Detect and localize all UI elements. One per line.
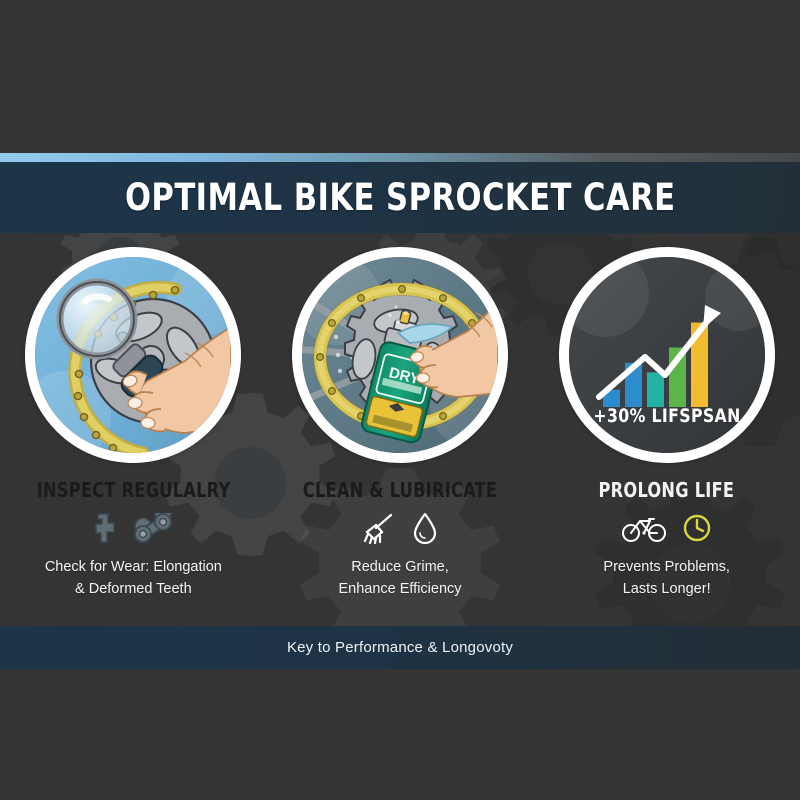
subtext-clean-line1: Reduce Grime,	[338, 556, 461, 578]
chart-bar	[647, 372, 664, 407]
infographic-poster: OPTIMAL BIKE SPROCKET CARE	[0, 153, 800, 669]
column-prolong: +30% LIFSPSAN PROLONG LIFE	[533, 241, 800, 626]
title-accent-strip	[0, 153, 800, 162]
subtext-inspect: Check for Wear: Elongation & Deformed Te…	[45, 556, 222, 601]
subtext-inspect-line1: Check for Wear: Elongation	[45, 556, 222, 578]
circle-inspect	[25, 247, 241, 463]
subtext-inspect-line2: & Deformed Teeth	[45, 578, 222, 600]
columns-container: INSPECT REGULALRY	[0, 241, 800, 626]
heading-inspect: INSPECT REGULALRY	[36, 478, 230, 502]
droplet-icon	[412, 512, 438, 544]
icon-row-prolong	[622, 511, 712, 545]
column-clean: DRY	[267, 241, 534, 626]
title-band: OPTIMAL BIKE SPROCKET CARE	[0, 162, 800, 233]
heading-clean: CLEAN & LUBIRICATE	[303, 478, 497, 502]
screenshot-stage: OPTIMAL BIKE SPROCKET CARE	[0, 0, 800, 800]
illustration-hand-magnifier-chain-sprocket	[35, 257, 231, 453]
circle-prolong: +30% LIFSPSAN	[559, 247, 775, 463]
page-title: OPTIMAL BIKE SPROCKET CARE	[125, 176, 676, 219]
clock-icon	[682, 513, 712, 543]
subtext-clean-line2: Enhance Efficiency	[338, 578, 461, 600]
subtext-prolong-line1: Prevents Problems,	[603, 556, 730, 578]
illustration-hand-spray-lube-sprocket: DRY	[302, 257, 498, 453]
deformed-tooth-icon	[94, 512, 118, 544]
circle-clean: DRY	[292, 247, 508, 463]
subtext-prolong: Prevents Problems, Lasts Longer!	[603, 556, 730, 601]
bicycle-icon	[622, 513, 666, 543]
badge-lifespan: +30% LIFSPSAN	[577, 405, 757, 427]
heading-prolong: PROLONG LIFE	[599, 478, 735, 502]
illustration-growth-bar-chart-badge: +30% LIFSPSAN	[569, 257, 765, 453]
chain-link-icon	[134, 513, 172, 543]
brush-icon	[362, 512, 396, 544]
icon-row-clean	[362, 511, 438, 545]
icon-row-inspect	[94, 511, 172, 545]
footer-text: Key to Performance & Longovoty	[287, 639, 513, 656]
letterbox-top	[0, 0, 800, 153]
column-inspect: INSPECT REGULALRY	[0, 241, 267, 626]
footer-band: Key to Performance & Longovoty	[0, 626, 800, 669]
letterbox-bottom	[0, 669, 800, 800]
subtext-clean: Reduce Grime, Enhance Efficiency	[338, 556, 461, 601]
subtext-prolong-line2: Lasts Longer!	[603, 578, 730, 600]
